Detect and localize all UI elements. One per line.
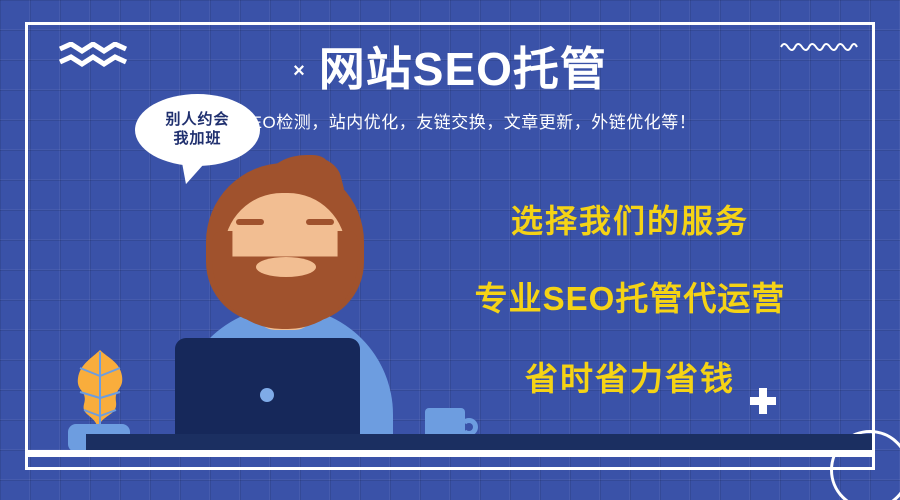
desk-surface — [28, 450, 872, 457]
plant-leaf-icon — [62, 348, 138, 430]
laptop-logo-dot — [260, 388, 274, 402]
eyebrow-right-shape — [306, 219, 334, 225]
close-x-icon: × — [293, 61, 305, 81]
seo-service-banner: × 网站SEO托管 含：SEO检测，站内优化，友链交换，文章更新，外链优化等！ … — [0, 0, 900, 500]
speech-bubble-line-2: 我加班 — [173, 130, 221, 149]
speech-bubble-line-1: 别人约会 — [165, 111, 229, 130]
mouth-shape — [256, 257, 316, 277]
hair-quiff-secondary-shape — [298, 157, 344, 189]
pitch-line-1: 选择我们的服务 — [430, 196, 830, 242]
pitch-line-3: 省时省力省钱 — [430, 352, 830, 400]
page-title: 网站SEO托管 — [319, 44, 607, 95]
pitch-block: 选择我们的服务 专业SEO托管代运营 省时省力省钱 — [430, 196, 830, 400]
title-row: × 网站SEO托管 — [293, 44, 607, 95]
header-block: × 网站SEO托管 含：SEO检测，站内优化，友链交换，文章更新，外链优化等！ — [0, 44, 900, 133]
eyebrow-left-shape — [236, 219, 264, 225]
pitch-line-2: 专业SEO托管代运营 — [430, 272, 830, 320]
